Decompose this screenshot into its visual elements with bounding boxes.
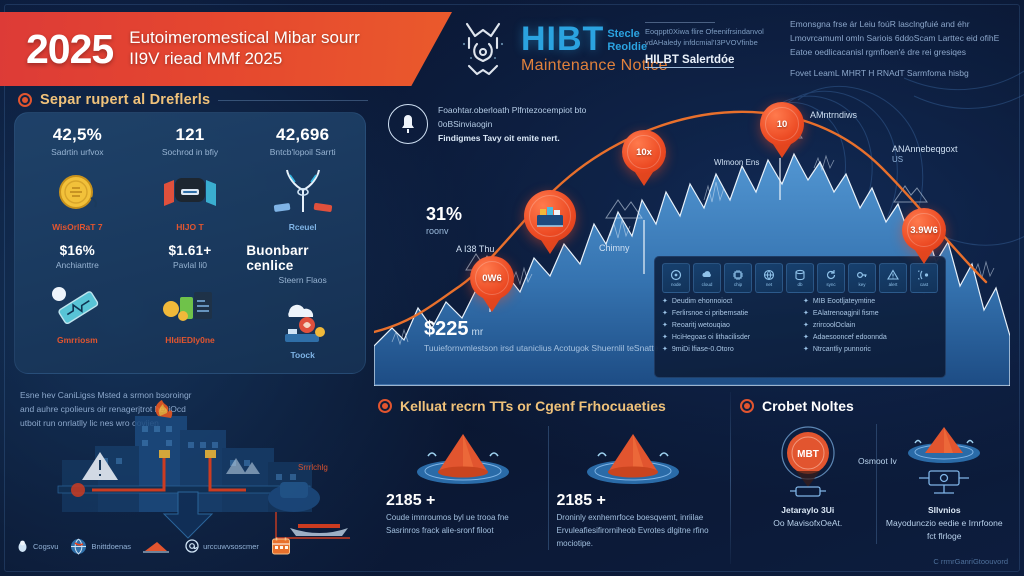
list-item-text: Ferlirsnoe ci pribemsatie (672, 310, 748, 319)
stat-cell[interactable]: 42,5% Sadrtin urfvox WisOrIRaT 7 (21, 125, 134, 243)
cast-icon (918, 269, 930, 281)
bullet-icon: ✦ (803, 322, 809, 330)
antenna-icon (272, 168, 334, 216)
alert-icon (887, 269, 899, 281)
pin-label: ANAnnebeqgoxt US (892, 144, 958, 164)
brand-logo-block: HIBT Stecle Reoldie Maintenance Notice (455, 14, 677, 82)
db-icon (794, 269, 806, 281)
cone-stats-row: 2185 + Coude imnroumos byl ue trooa fne … (378, 426, 718, 550)
chip-icon (732, 269, 744, 281)
brand-name: urccuwvsoscmer (203, 542, 259, 551)
tile-label: cloud (702, 282, 713, 287)
pin-value: 10x (636, 147, 652, 158)
bottom-left-title: Kelluat recrn TTs or Cgenf Frhocuaeties (378, 398, 718, 414)
stack-icon (159, 283, 221, 327)
pin-label: A I38 Thu (456, 244, 494, 254)
tile[interactable]: cloud (693, 263, 721, 293)
infographic-root: 2025 Eutoimeromestical Mibar sourr II9V … (0, 0, 1024, 576)
brand-item[interactable] (271, 536, 295, 556)
stat-caption: Toock (290, 350, 314, 360)
detail-columns: ✦Deudim ehonnoioct ✦Ferlirsnoe ci pribem… (662, 298, 938, 358)
header-col2-text: Eoqppt0Xiwa flire Ofeenifrsindanvol vdAH… (645, 26, 767, 49)
stat-cell[interactable]: 121 Sochrod in bfiy HIJO T (134, 125, 247, 243)
list-item: ✦Ntrcantliy punnoric (803, 346, 938, 355)
calendar-icon (271, 536, 291, 556)
pin-label: Chimny (599, 243, 630, 253)
stat-label: Sadrtin urfvox (51, 147, 103, 157)
pin-label: AMntrndiws (810, 110, 857, 120)
kpi-31: 31% roonv (426, 204, 462, 236)
tile[interactable]: key (848, 263, 876, 293)
pin-badge-icon: MBT (770, 425, 846, 503)
map-pin[interactable]: 10 (760, 102, 804, 158)
tile[interactable]: db (786, 263, 814, 293)
cone-on-disc-icon (578, 428, 688, 488)
bullet-dot-icon (18, 93, 32, 107)
net-icon (763, 269, 775, 281)
brand-legend-bar: Cogsvu Bnittdoenas urccuwvsoscmer (16, 533, 356, 559)
pin-bulb: 3.9W6 (902, 208, 946, 252)
mountain-chart-panel: Foaohtar.oberloath Plfntezocempiot bto 0… (374, 96, 1010, 386)
list-item: ✦Reoaritj wetouqiao (662, 322, 797, 331)
brand-item[interactable]: urccuwvsoscmer (185, 539, 259, 553)
tile-label: sync (826, 282, 835, 287)
pin-bulb: 10 (760, 102, 804, 146)
stat-cell[interactable]: Buonbarr cenlice Steern Flaos Toock (246, 243, 359, 361)
brand-item[interactable]: Cogsvu (16, 540, 58, 553)
at-icon (185, 539, 199, 553)
node-icon (670, 269, 682, 281)
list-item-text: Deudim ehonnoioct (672, 298, 732, 307)
bullet-icon: ✦ (803, 334, 809, 342)
bottom-left-section: Kelluat recrn TTs or Cgenf Frhocuaeties … (378, 398, 718, 550)
cone-stat[interactable]: 2185 + Coude imnroumos byl ue trooa fne … (378, 426, 548, 550)
kpi-225: $225mr Tuuiefornvmlestson irsd utanicliu… (424, 318, 659, 355)
pin-badge-art: MBT (770, 424, 846, 504)
cone-on-disc-icon (408, 428, 518, 488)
stat-art (272, 166, 334, 218)
list-item-text: Adaesooncef edoonnda (813, 334, 887, 343)
key-icon (856, 269, 868, 281)
note-caption: Oo MavisofxOeAt. (773, 517, 842, 530)
pin-bulb: 0W6 (470, 256, 514, 300)
brand-name: Cogsvu (33, 542, 58, 551)
tile-label: db (797, 282, 802, 287)
list-item-text: 9miDi lfiase-0.Otoro (672, 346, 734, 355)
logo-wordmark: HIBT (521, 22, 604, 56)
page-header: 2025 Eutoimeromestical Mibar sourr II9V … (0, 8, 1024, 94)
bullet-dot-icon (378, 399, 392, 413)
globe-icon (70, 538, 87, 555)
note-subtitle: Sllvnios (928, 504, 961, 517)
cloud-icon (701, 269, 713, 281)
list-item: ✦MIB Eootljateymtine (803, 298, 938, 307)
chip-icon (48, 283, 106, 327)
stat-caption: HIdiEDly0ne (165, 335, 215, 345)
kpi-225-value: $225 (424, 318, 469, 340)
header-col3-paragraph-2: Fovet LeamL MHRT H RNAdT Sarmfoma hisbg (790, 67, 1012, 81)
bottom-right-body: MBT Jetaraylo 3Ui Oo MavisofxOeAt. (740, 424, 1012, 544)
bottom-right-title: Crobet Noltes (740, 398, 1012, 414)
map-pin[interactable] (524, 190, 576, 246)
list-item-text: Ntrcantliy punnoric (813, 346, 871, 355)
tile[interactable]: cast (910, 263, 938, 293)
cone-value: 2185 + (557, 492, 711, 510)
svg-text:Srrrlchlg: Srrrlchlg (298, 463, 328, 472)
coin-icon (53, 168, 101, 216)
list-item: ✦Ferlirsnoe ci pribemsatie (662, 310, 797, 319)
section-divider (374, 384, 1010, 385)
tile-label: alert (889, 282, 898, 287)
brand-item[interactable] (143, 540, 173, 553)
cone-art (557, 426, 711, 490)
detail-column-right: ✦MIB Eootljateymtine ✦EAlatrenoagjnil fi… (803, 298, 938, 358)
detail-column-left: ✦Deudim ehonnoioct ✦Ferlirsnoe ci pribem… (662, 298, 797, 358)
stat-cell[interactable]: 42,696 Bntcb'lopoil Sarrti Rceuel (246, 125, 359, 243)
tile[interactable]: chip (724, 263, 752, 293)
stat-value: 42,696 (276, 125, 329, 145)
banner-year: 2025 (26, 29, 113, 70)
tile-label: node (671, 282, 681, 287)
cone-stat[interactable]: 2185 + Droninly exnhemrfoce boesqvemt, i… (548, 426, 719, 550)
svg-text:MBT: MBT (797, 449, 819, 460)
kpi-225-label: Tuuiefornvmlestson irsd utaniclius Acotu… (424, 342, 659, 355)
device-icon (160, 172, 220, 212)
list-item-text: zrircoolOclain (813, 322, 855, 331)
cone-desc: Coude imnroumos byl ue trooa fne Sasrinr… (386, 512, 540, 538)
bull-shield-logo-icon (455, 14, 511, 82)
map-pin[interactable]: 0W6 (470, 256, 514, 312)
cargo-port-icon (535, 203, 565, 229)
alert-badge (388, 104, 428, 144)
bullet-icon: ✦ (662, 322, 668, 330)
pin-value: 10 (777, 119, 788, 130)
alert-note: Foaohtar.oberloath Plfntezocempiot bto 0… (438, 104, 638, 145)
stat-art (160, 166, 220, 218)
stat-value: $1.61+ (169, 243, 212, 258)
stats-grid: 42,5% Sadrtin urfvox WisOrIRaT 7 121 Soc… (15, 113, 365, 373)
cloud-icon (273, 296, 333, 344)
pin-bulb: 10x (622, 130, 666, 174)
stat-label: Steern Flaos (279, 275, 327, 285)
tile[interactable]: sync (817, 263, 845, 293)
stat-caption: WisOrIRaT 7 (52, 222, 102, 232)
peak-label: Wlmoon Ens (714, 158, 759, 167)
header-column-3: Emonsgna frse ár Leiu foúR lasclngfuié a… (790, 18, 1012, 81)
left-section-title: Separ rupert al Dreflerls (18, 92, 368, 108)
header-col2-highlight: HILBT Salertdóe (645, 54, 734, 68)
kpi-31-label: roonv (426, 226, 462, 236)
stat-art (53, 166, 101, 218)
bullet-dot-icon (740, 399, 754, 413)
list-item: ✦HciHegoas oi lithacilisder (662, 334, 797, 343)
sail-icon (143, 540, 169, 553)
sync-icon (825, 269, 837, 281)
bullet-icon: ✦ (662, 334, 668, 342)
stat-caption: HIJO T (176, 222, 203, 232)
header-banner: 2025 Eutoimeromestical Mibar sourr II9V … (0, 12, 452, 86)
stat-art (159, 279, 221, 331)
list-item-text: Reoaritj wetouqiao (672, 322, 730, 331)
cone-art (386, 426, 540, 490)
stat-label: Anchianttre (56, 260, 99, 270)
bullet-icon: ✦ (803, 310, 809, 318)
header-col3-paragraph-1: Emonsgna frse ár Leiu foúR lasclngfuié a… (790, 18, 1012, 59)
stats-card: 42,5% Sadrtin urfvox WisOrIRaT 7 121 Soc… (14, 112, 366, 374)
penguin-icon (16, 540, 29, 553)
bullet-icon: ✦ (662, 310, 668, 318)
footer-note: C rrmrGanriGtoouvord (933, 557, 1008, 566)
banner-title: Eutoimeromestical Mibar sourr II9V riead… (129, 28, 384, 69)
stat-art (48, 279, 106, 331)
brand-item[interactable]: Bnittdoenas (70, 538, 131, 555)
tile-label: key (858, 282, 865, 287)
tile-label: cast (920, 282, 928, 287)
note-item[interactable]: Sllvnios Mayodunczio eedie e Irnrfoone f… (876, 424, 1013, 544)
cone-on-disc-icon (901, 425, 987, 503)
stat-value: 42,5% (53, 125, 102, 145)
bottom-left-title-text: Kelluat recrn TTs or Cgenf Frhocuaeties (400, 398, 666, 414)
chart-detail-card: node cloud chip net db sync key alert ca… (654, 256, 946, 378)
tile[interactable]: net (755, 263, 783, 293)
alert-note-line-2: Findigmes Tavy oit emite nert. (438, 132, 638, 146)
stat-art (273, 294, 333, 346)
note-side-label: Osmoot Iv (858, 456, 897, 466)
stat-label: Bntcb'lopoil Sarrti (270, 147, 336, 157)
list-item-text: MIB Eootljateymtine (813, 298, 875, 307)
alert-note-line-1: Foaohtar.oberloath Plfntezocempiot bto 0… (438, 104, 638, 132)
alert-bell-icon (398, 113, 418, 135)
list-item: ✦Adaesooncef edoonnda (803, 334, 938, 343)
cone-disc-art (901, 424, 987, 504)
list-item-text: EAlatrenoagjnil fisme (813, 310, 879, 319)
note-item[interactable]: MBT Jetaraylo 3Ui Oo MavisofxOeAt. (740, 424, 876, 544)
tile-row: node cloud chip net db sync key alert ca… (662, 263, 938, 293)
pin-value: 3.9W6 (910, 225, 937, 236)
kpi-225-unit: mr (472, 327, 484, 338)
list-item: ✦Deudim ehonnoioct (662, 298, 797, 307)
header-rule (645, 22, 715, 23)
tile-label: chip (734, 282, 742, 287)
list-item: ✦zrircoolOclain (803, 322, 938, 331)
bullet-icon: ✦ (803, 346, 809, 354)
pin-bulb (524, 190, 576, 242)
tile[interactable]: node (662, 263, 690, 293)
vertical-divider (730, 392, 731, 564)
cone-desc: Droninly exnhemrfoce boesqvemt, inriilae… (557, 512, 711, 550)
stat-value: 121 (176, 125, 205, 145)
stat-cell[interactable]: $16% Anchianttre Gmrriosm (21, 243, 134, 361)
brand-name: Bnittdoenas (91, 542, 131, 551)
stat-value: $16% (60, 243, 95, 258)
tile-label: net (766, 282, 772, 287)
list-item-text: HciHegoas oi lithacilisder (672, 334, 750, 343)
bottom-right-title-text: Crobet Noltes (762, 398, 854, 414)
bullet-icon: ✦ (662, 346, 668, 354)
kpi-31-value: 31% (426, 204, 462, 225)
note-caption: Mayodunczio eedie e Irnrfoone fct flrlog… (883, 517, 1007, 543)
pin-label-sub: US (892, 155, 903, 164)
tile[interactable]: alert (879, 263, 907, 293)
bottom-right-section: Crobet Noltes MBT (740, 398, 1012, 544)
industrial-city-illustration: Srrrlchlg (40, 400, 370, 540)
note-subtitle: Jetaraylo 3Ui (781, 504, 834, 517)
list-item: ✦EAlatrenoagjnil fisme (803, 310, 938, 319)
stat-value: Buonbarr cenlice (246, 243, 359, 273)
header-column-2: Eoqppt0Xiwa flire Ofeenifrsindanvol vdAH… (645, 22, 767, 68)
map-pin[interactable]: 10x (622, 130, 666, 186)
bullet-icon: ✦ (803, 298, 809, 306)
stat-label: Sochrod in bfiy (162, 147, 218, 157)
stat-caption: Gmrriosm (57, 335, 98, 345)
list-item: ✦9miDi lfiase-0.Otoro (662, 346, 797, 355)
stat-cell[interactable]: $1.61+ Pavlal li0 HIdiEDly0ne (134, 243, 247, 361)
left-section-title-text: Separ rupert al Dreflerls (40, 92, 210, 108)
title-rule (218, 100, 368, 101)
pin-label-main: ANAnnebeqgoxt (892, 144, 958, 154)
stat-label: Pavlal li0 (173, 260, 207, 270)
pin-value: 0W6 (482, 273, 502, 284)
bullet-icon: ✦ (662, 298, 668, 306)
stat-caption: Rceuel (289, 222, 317, 232)
cone-value: 2185 + (386, 492, 540, 510)
